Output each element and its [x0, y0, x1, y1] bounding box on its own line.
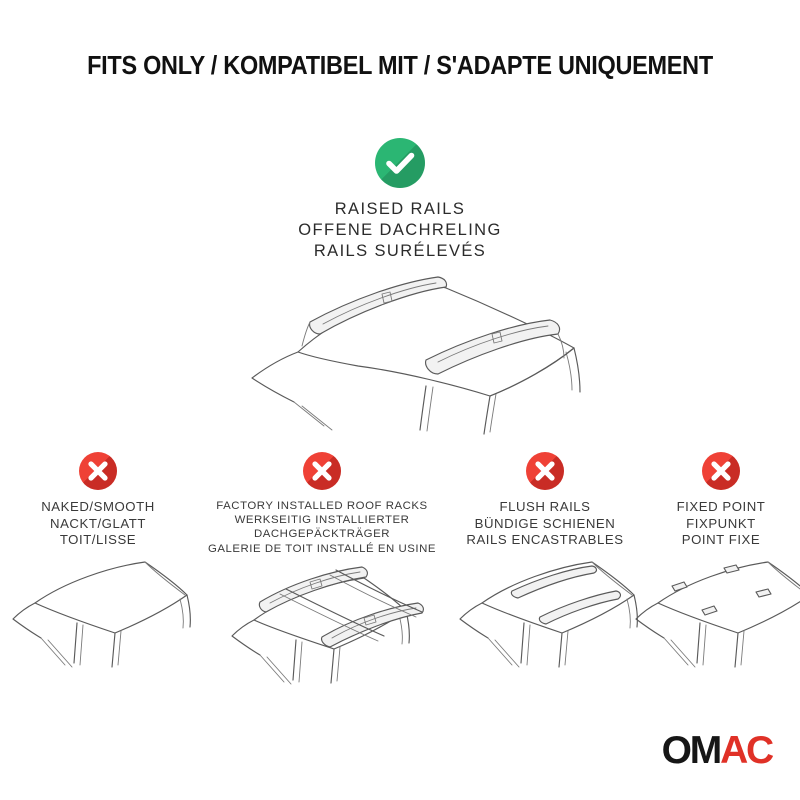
label-line-2: FIXPUNKT [677, 516, 766, 533]
compatible-label-fr: RAILS SURÉLEVÉS [298, 241, 502, 262]
x-circle-icon [526, 452, 564, 490]
label-line-1: FACTORY INSTALLED ROOF RACKS [208, 499, 436, 513]
label-line-1: FLUSH RAILS [466, 499, 623, 516]
car-roof-with-flush-rails-illustration [452, 555, 638, 680]
label-line-3: TOIT/LISSE [41, 532, 155, 549]
compatibility-infographic: FITS ONLY / KOMPATIBEL MIT / S'ADAPTE UN… [0, 0, 800, 800]
incompatible-item-fixed-point: FIXED POINT FIXPUNKT POINT FIXE [642, 452, 800, 680]
omac-logo: OMAC [662, 731, 772, 770]
incompatible-section: NAKED/SMOOTH NACKT/GLATT TOIT/LISSE [0, 452, 800, 695]
incompatible-labels: FACTORY INSTALLED ROOF RACKS WERKSEITIG … [208, 499, 436, 556]
logo-text-primary: OM [662, 729, 720, 772]
car-roof-with-raised-rails-illustration [190, 274, 610, 444]
incompatible-labels: FLUSH RAILS BÜNDIGE SCHIENEN RAILS ENCAS… [466, 499, 623, 549]
car-roof-with-factory-crossbars-illustration [212, 562, 432, 695]
incompatible-item-flush-rails: FLUSH RAILS BÜNDIGE SCHIENEN RAILS ENCAS… [448, 452, 642, 680]
label-line-3: RAILS ENCASTRABLES [466, 532, 623, 549]
incompatible-item-naked-smooth: NAKED/SMOOTH NACKT/GLATT TOIT/LISSE [0, 452, 196, 680]
compatible-labels: RAISED RAILS OFFENE DACHRELING RAILS SUR… [298, 199, 502, 262]
label-line-2: NACKT/GLATT [41, 516, 155, 533]
compatible-label-en: RAISED RAILS [298, 199, 502, 220]
x-circle-icon [79, 452, 117, 490]
compatible-label-de: OFFENE DACHRELING [298, 220, 502, 241]
label-line-2: BÜNDIGE SCHIENEN [466, 516, 623, 533]
x-circle-icon [303, 452, 341, 490]
label-line-3: POINT FIXE [677, 532, 766, 549]
label-line-2: WERKSEITIG INSTALLIERTER [208, 513, 436, 527]
car-roof-with-fixed-points-illustration [632, 555, 800, 680]
check-circle-icon [375, 138, 425, 188]
incompatible-labels: NAKED/SMOOTH NACKT/GLATT TOIT/LISSE [41, 499, 155, 549]
incompatible-item-factory-roof-racks: FACTORY INSTALLED ROOF RACKS WERKSEITIG … [196, 452, 448, 695]
incompatible-labels: FIXED POINT FIXPUNKT POINT FIXE [677, 499, 766, 549]
compatible-section: RAISED RAILS OFFENE DACHRELING RAILS SUR… [0, 138, 800, 444]
label-line-3: DACHGEPÄCKTRÄGER [208, 527, 436, 541]
x-circle-icon [702, 452, 740, 490]
logo-text-accent: AC [720, 729, 772, 772]
car-roof-naked-smooth-illustration [5, 555, 191, 680]
page-title: FITS ONLY / KOMPATIBEL MIT / S'ADAPTE UN… [32, 52, 768, 81]
label-line-1: FIXED POINT [677, 499, 766, 516]
label-line-4: GALERIE DE TOIT INSTALLÉ EN USINE [208, 542, 436, 556]
label-line-1: NAKED/SMOOTH [41, 499, 155, 516]
